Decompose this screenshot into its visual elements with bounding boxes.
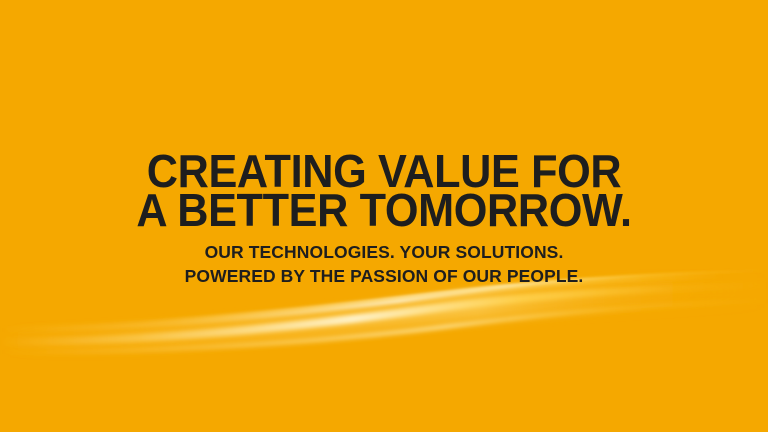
subtitle-line-2: POWERED BY THE PASSION OF OUR PEOPLE. [0,264,768,288]
slide-text-block: CREATING VALUE FOR A BETTER TOMORROW. OU… [0,0,768,432]
page-subtitle: OUR TECHNOLOGIES. YOUR SOLUTIONS. POWERE… [0,240,768,288]
page-title: CREATING VALUE FOR A BETTER TOMORROW. [23,152,745,230]
subtitle-line-1: OUR TECHNOLOGIES. YOUR SOLUTIONS. [0,240,768,264]
slide-canvas: CREATING VALUE FOR A BETTER TOMORROW. OU… [0,0,768,432]
headline-line-2: A BETTER TOMORROW. [23,191,745,230]
